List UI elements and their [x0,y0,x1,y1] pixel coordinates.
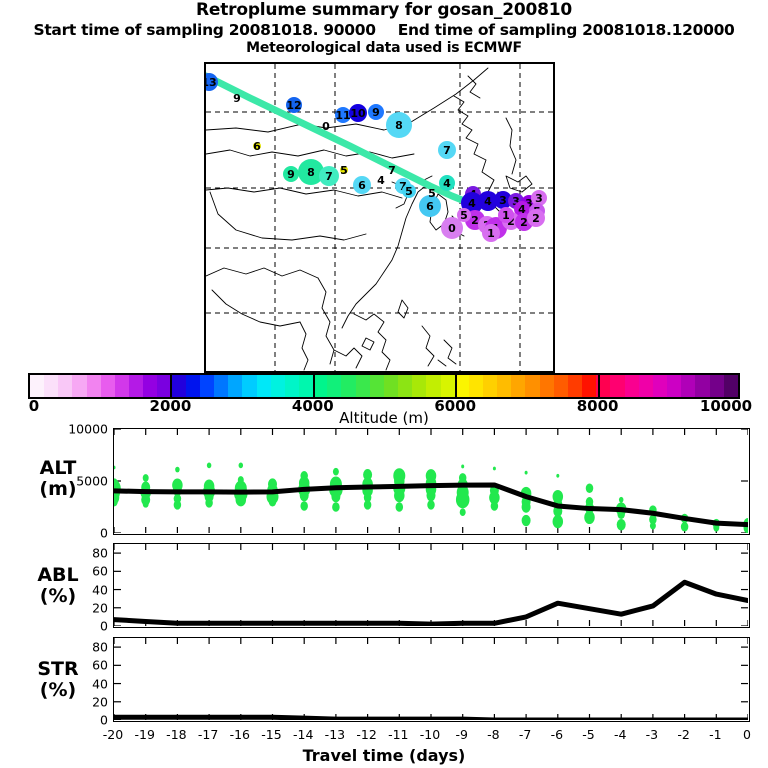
colorbar-segment [186,375,200,397]
x-tick-label: -12 [356,727,376,742]
x-tick-label: -8 [487,727,499,742]
mean-series-line [114,582,748,624]
colorbar-segment [87,375,101,397]
x-tick-label: -2 [677,727,689,742]
colorbar-segment [30,375,44,397]
y-tick-label: 80 [58,546,108,561]
plume-bubble-label: 6 [253,141,261,152]
str-plot-svg [114,638,748,720]
plume-bubble[interactable]: 7 [438,141,456,159]
plume-bubble-label: 12 [286,100,301,111]
colorbar-segment [44,375,58,397]
colorbar-segment [525,375,539,397]
retroplume-trajectory [206,76,470,202]
plume-bubble[interactable]: 10 [349,104,367,122]
alt-scatter-dot [493,467,496,471]
x-tick-label: -5 [582,727,594,742]
x-tick-label: -18 [166,727,186,742]
colorbar-segment [412,375,426,397]
colorbar-segment [441,375,455,397]
plume-bubble-label: 0 [448,223,456,234]
colorbar-segment [426,375,440,397]
plume-bubble-label: 1 [487,228,495,239]
colorbar-segment [285,375,299,397]
colorbar-segment [398,375,412,397]
y-tick-label: 0 [58,619,108,634]
y-tick-label: 20 [58,694,108,709]
colorbar-segment [115,375,129,397]
colorbar-segment [681,375,695,397]
colorbar-segment [214,375,228,397]
plume-bubble[interactable]: 13 [204,73,218,91]
abl-plot-svg [114,544,748,626]
colorbar-segment [257,375,271,397]
alt-scatter-dot [525,471,528,475]
plume-bubble[interactable]: 5 [340,166,348,174]
colorbar-segment [299,375,313,397]
alt-scatter-dot [427,500,435,510]
alt-scatter-dot [456,491,470,508]
x-tick-label: -7 [519,727,531,742]
plume-bubble-label: 0 [322,121,330,132]
colorbar-divider [313,373,315,399]
y-tick-label: 60 [58,564,108,579]
alt-plot-frame[interactable] [113,428,750,535]
plume-bubble[interactable]: 0 [320,120,332,132]
colorbar-segment [724,375,738,397]
end-time-text: End time of sampling 20081018.120000 [398,21,735,39]
alt-scatter-dot [207,463,212,469]
x-tick-label: 0 [743,727,751,742]
x-tick-label: -4 [614,727,626,742]
plume-bubble[interactable]: 4 [375,174,387,186]
colorbar-segment [483,375,497,397]
alt-scatter-dot [236,493,247,506]
alt-scatter-dot [522,515,531,526]
colorbar-segment [327,375,341,397]
y-tick-label: 0 [58,713,108,728]
plume-bubble-label: 7 [443,145,451,156]
alt-scatter-dot [143,474,149,482]
y-tick-label: 5000 [58,474,108,489]
alt-scatter-dot [491,501,499,511]
plume-bubble[interactable]: 9 [368,104,384,120]
colorbar-segment [228,375,242,397]
plume-bubble[interactable]: 9 [231,92,243,104]
plume-bubble-label: 5 [460,210,468,221]
alt-scatter-dot [650,522,656,530]
colorbar-segment [497,375,511,397]
met-data-text: Meteorological data used is ECMWF [0,40,768,57]
colorbar-segment [554,375,568,397]
alt-scatter-dot [300,501,308,511]
colorbar-segment [341,375,355,397]
plume-bubble-label: 5 [428,188,436,199]
colorbar-segment [271,375,285,397]
alt-scatter-dot [114,466,116,470]
plume-bubble[interactable]: 5 [402,184,416,198]
plume-bubble-label: 4 [484,196,492,207]
plume-bubble[interactable]: 7 [319,166,339,186]
plume-bubble-label: 9 [287,169,295,180]
plume-bubble-label: 7 [388,165,396,176]
plume-bubble-label: 6 [358,180,366,191]
plume-bubble-label: 2 [532,213,540,224]
colorbar-segment [653,375,667,397]
x-tick-label: -19 [134,727,154,742]
start-time-text: Start time of sampling 20081018. 90000 [33,21,375,39]
colorbar-segment [101,375,115,397]
plume-bubble-label: 3 [499,195,507,206]
plume-bubble-label: 6 [426,201,434,212]
alt-scatter-dot [461,465,464,469]
colorbar-segment [370,375,384,397]
colorbar-segment [511,375,525,397]
x-tick-label: -17 [198,727,218,742]
colorbar-segment [143,375,157,397]
colorbar-segment [58,375,72,397]
colorbar-segment [469,375,483,397]
x-axis-title: Travel time (days) [0,746,768,765]
colorbar-segment [72,375,86,397]
colorbar-segment [568,375,582,397]
plume-bubble[interactable]: 2 [527,209,545,227]
plume-bubble[interactable]: 1 [482,224,500,242]
plume-bubble-label: 8 [395,120,403,131]
alt-scatter-dot [333,468,339,476]
plume-bubble[interactable]: 4 [439,175,455,191]
alt-scatter-dot [332,502,340,512]
x-tick-label: -6 [551,727,563,742]
alt-scatter-dot [364,500,372,510]
colorbar-segment [242,375,256,397]
plume-bubble-label: 10 [350,108,365,119]
y-tick-label: 80 [58,640,108,655]
altitude-colorbar[interactable] [28,373,740,399]
colorbar-segment [172,375,186,397]
colorbar-axis-label: Altitude (m) [0,409,768,427]
x-tick-label: -20 [103,727,123,742]
mean-series-line [114,717,748,720]
plume-bubble-label: 5 [405,186,413,197]
y-tick-label: 0 [58,526,108,541]
colorbar-segment [695,375,709,397]
y-tick-label: 40 [58,676,108,691]
alt-scatter-dot [396,502,404,512]
sampling-time-line: Start time of sampling 20081018. 90000En… [0,21,768,40]
alt-scatter-dot [584,511,595,524]
alt-scatter-dot [553,515,564,528]
colorbar-segment [710,375,724,397]
plume-bubble-label: 13 [204,77,217,88]
x-tick-label: -14 [293,727,313,742]
colorbar-segment [356,375,370,397]
page-title: Retroplume summary for gosan_200810 [0,0,768,21]
x-tick-label: -11 [388,727,408,742]
x-tick-label: -10 [420,727,440,742]
plume-bubble[interactable]: 6 [253,142,261,150]
plume-bubble[interactable]: 1 [498,207,514,223]
retroplume-map[interactable]: 1391211109806798756477546544433334502211… [204,62,555,373]
colorbar-divider [598,373,600,399]
alt-scatter-dot [556,474,559,478]
alt-scatter-dot [331,491,340,502]
plume-bubble[interactable]: 5 [457,208,471,222]
plume-bubble-label: 9 [233,93,241,104]
x-tick-label: -15 [261,727,281,742]
plume-bubble-label: 4 [377,175,385,186]
plume-bubble-label: 9 [372,107,380,118]
alt-scatter-dot [460,508,466,516]
title-block: Retroplume summary for gosan_200810 Star… [0,0,768,57]
abl-plot-frame[interactable] [113,543,750,628]
alt-scatter-dot [619,497,624,503]
plume-bubble[interactable]: 8 [386,112,412,138]
plume-bubble[interactable]: 9 [283,166,299,182]
y-tick-label: 20 [58,600,108,615]
alt-scatter-dot [143,500,149,508]
alt-scatter-dot [269,497,277,507]
colorbar-segment [625,375,639,397]
alt-scatter-dot [239,463,244,469]
alt-scatter-dot [681,522,689,532]
colorbar-segment [384,375,398,397]
x-tick-label: -9 [455,727,467,742]
x-tick-label: -13 [325,727,345,742]
plume-bubble[interactable]: 5 [426,187,438,199]
plume-bubble[interactable]: 6 [353,176,371,194]
colorbar-segment [610,375,624,397]
str-plot-frame[interactable] [113,637,750,722]
plume-bubble-label: 3 [535,193,543,204]
y-tick-label: 10000 [58,422,108,437]
colorbar-segment [667,375,681,397]
plume-bubble-label: 8 [307,167,315,178]
plume-bubble-label: 1 [502,210,510,221]
plume-bubble[interactable]: 12 [286,97,302,113]
y-tick-label: 60 [58,658,108,673]
colorbar-segment [639,375,653,397]
alt-scatter-dot [205,498,213,508]
x-tick-label: -1 [709,727,721,742]
plume-bubble-label: 5 [340,165,348,176]
colorbar-segment [200,375,214,397]
x-tick-label: -3 [646,727,658,742]
plume-bubble-label: 4 [468,198,476,209]
colorbar-segment [129,375,143,397]
colorbar-segment [540,375,554,397]
alt-scatter-dot [522,501,531,512]
colorbar-divider [455,373,457,399]
plume-bubble-label: 7 [325,171,333,182]
y-tick-label: 40 [58,582,108,597]
colorbar-segment [582,375,596,397]
alt-scatter-dot [586,484,594,494]
alt-scatter-dot [427,490,436,501]
alt-scatter-dot [394,489,405,502]
alt-scatter-dot [175,467,180,473]
colorbar-segment [313,375,327,397]
colorbar-divider [170,373,172,399]
alt-plot-svg [114,429,748,533]
plume-bubble-label: 4 [443,178,451,189]
alt-scatter-dot [174,500,182,510]
alt-scatter-dot [617,519,626,530]
plume-bubble[interactable]: 7 [386,164,398,176]
x-tick-label: -16 [230,727,250,742]
